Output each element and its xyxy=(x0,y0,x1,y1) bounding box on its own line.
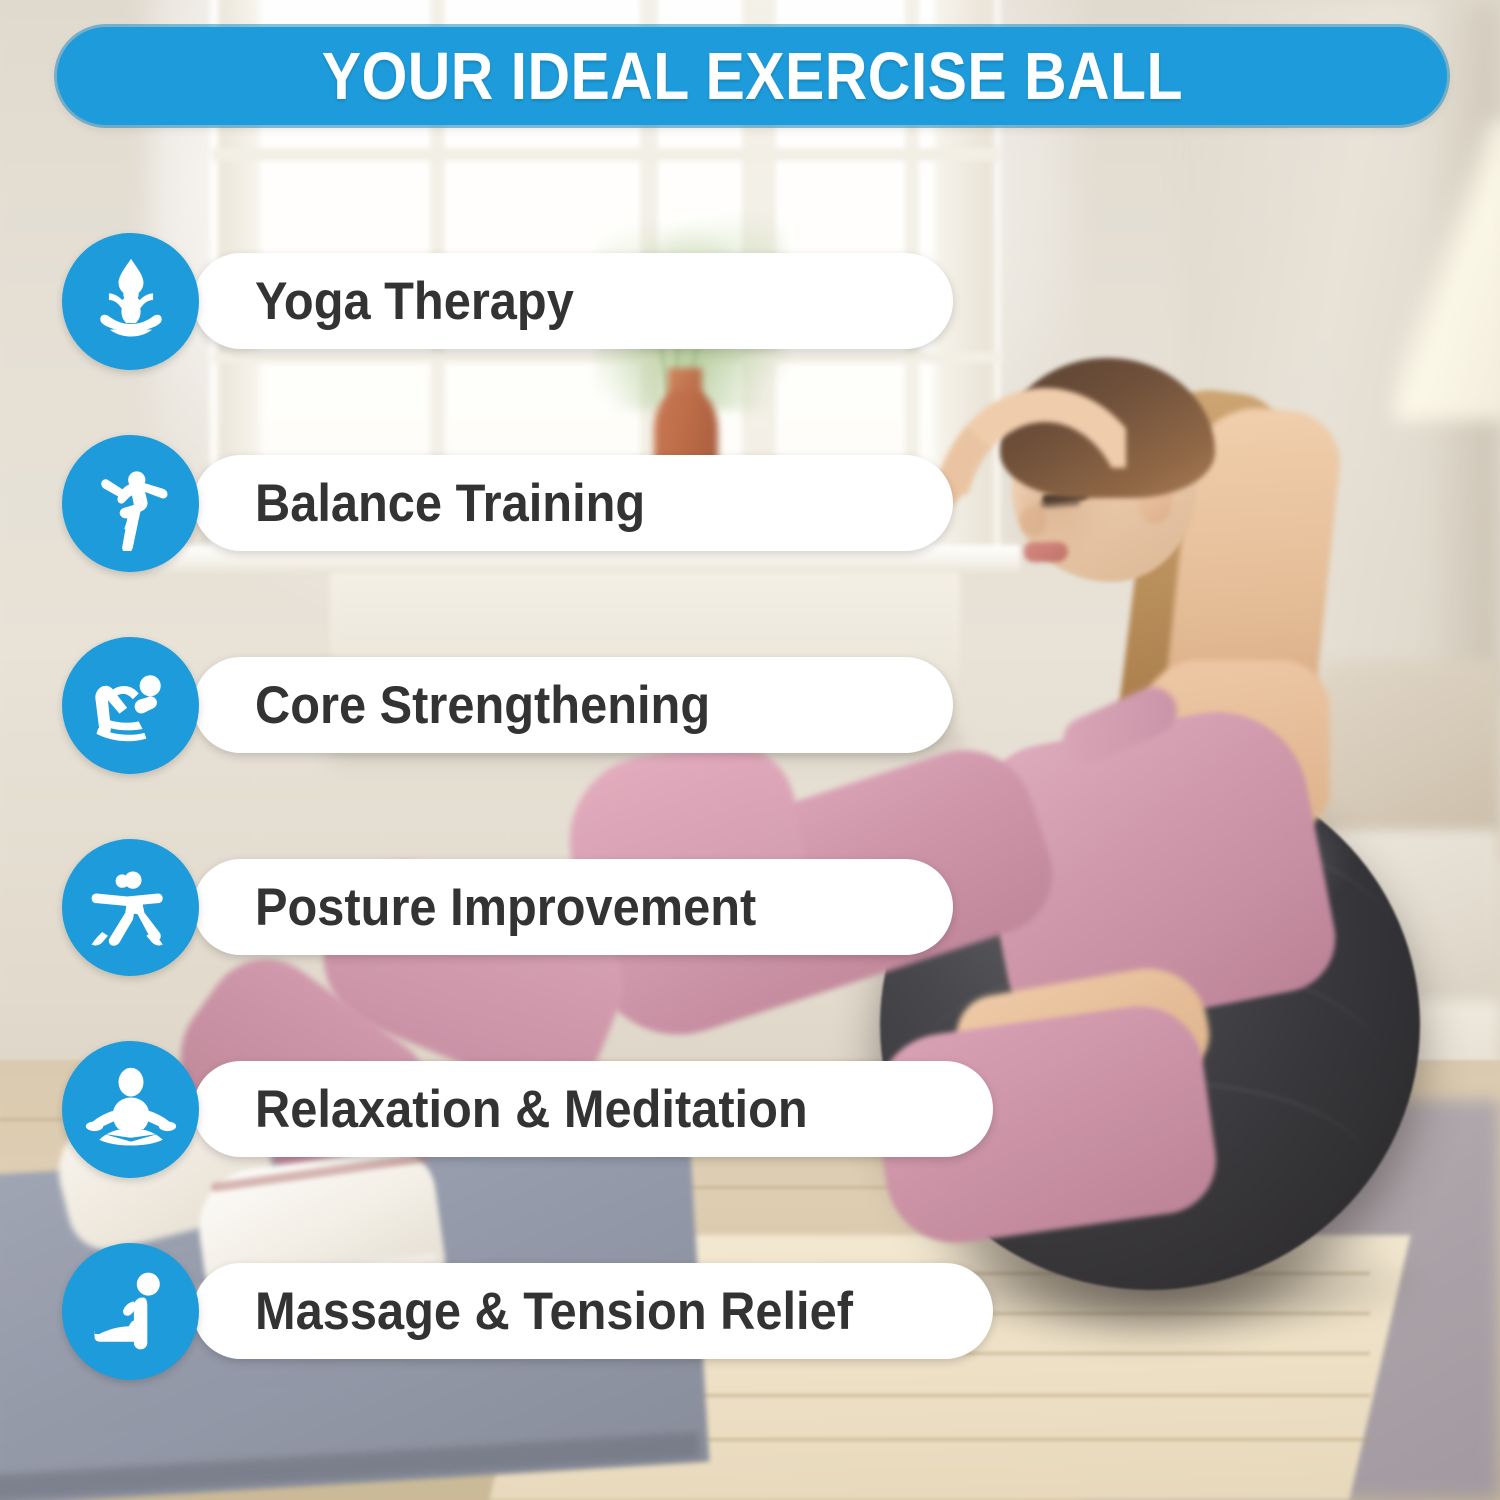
feature-pill: Balance Training xyxy=(193,455,953,551)
yoga-lotus-arms-raised-icon xyxy=(62,233,199,370)
balance-dancer-pose-icon xyxy=(62,435,199,572)
feature-label: Balance Training xyxy=(255,477,645,530)
feature-label: Relaxation & Meditation xyxy=(255,1083,808,1136)
feature-pill: Yoga Therapy xyxy=(193,253,953,349)
posture-warrior-pose-icon xyxy=(62,839,199,976)
feature-row-core-strengthening[interactable]: Core Strengthening xyxy=(62,636,953,774)
feature-row-posture-improvement[interactable]: Posture Improvement xyxy=(62,838,953,976)
feature-row-yoga-therapy[interactable]: Yoga Therapy xyxy=(62,232,953,370)
massage-therapy-icon xyxy=(62,1243,199,1380)
feature-row-balance-training[interactable]: Balance Training xyxy=(62,434,953,572)
feature-list: Yoga Therapy Balance Training xyxy=(0,0,1500,1500)
feature-pill: Core Strengthening xyxy=(193,657,953,753)
infographic-canvas: YOUR IDEAL EXERCISE BALL Yoga Therapy xyxy=(0,0,1500,1500)
feature-pill: Posture Improvement xyxy=(193,859,953,955)
feature-pill: Relaxation & Meditation xyxy=(193,1061,993,1157)
feature-label: Core Strengthening xyxy=(255,679,710,732)
core-crunch-figure-icon xyxy=(62,637,199,774)
feature-row-relaxation-meditation[interactable]: Relaxation & Meditation xyxy=(62,1040,993,1178)
feature-label: Massage & Tension Relief xyxy=(255,1285,853,1338)
feature-label: Posture Improvement xyxy=(255,881,756,934)
feature-row-massage-tension-relief[interactable]: Massage & Tension Relief xyxy=(62,1242,993,1380)
feature-label: Yoga Therapy xyxy=(255,275,574,328)
meditation-lotus-icon xyxy=(62,1041,199,1178)
feature-pill: Massage & Tension Relief xyxy=(193,1263,993,1359)
